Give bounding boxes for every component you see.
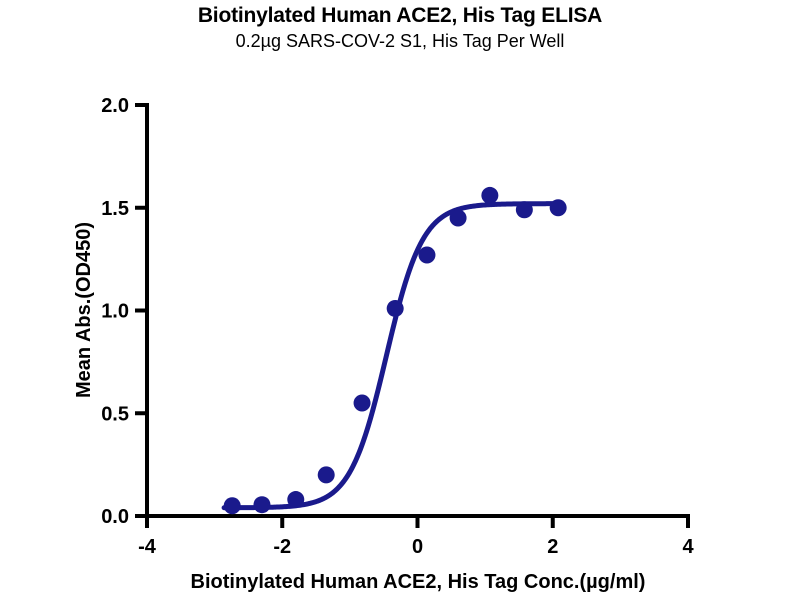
y-tick-label: 0.0: [101, 506, 129, 528]
data-point: [516, 201, 533, 218]
y-tick-label: 1.0: [101, 301, 129, 323]
x-tick-label: 2: [547, 536, 558, 558]
plot-area: 0.00.51.01.52.0 -4-2024 Mean Abs.(OD450)…: [0, 0, 800, 600]
data-point: [418, 247, 435, 264]
data-point: [253, 496, 270, 513]
chart-figure: Biotinylated Human ACE2, His Tag ELISA 0…: [0, 0, 800, 600]
data-point: [481, 187, 498, 204]
x-tick-label: 0: [412, 536, 423, 558]
x-tick-label: -2: [273, 536, 291, 558]
x-tick-label: 4: [682, 536, 694, 558]
y-tick-label: 1.5: [101, 198, 129, 220]
data-point: [318, 466, 335, 483]
x-axis-tick-labels: -4-2024: [138, 536, 694, 558]
y-tick-label: 2.0: [101, 95, 129, 117]
y-tick-label: 0.5: [101, 403, 129, 425]
y-axis-title: Mean Abs.(OD450): [73, 222, 95, 398]
y-axis-tick-labels: 0.00.51.01.52.0: [101, 95, 129, 528]
data-point: [287, 491, 304, 508]
data-point-markers: [224, 187, 567, 514]
data-point: [387, 300, 404, 317]
fit-curve: [224, 204, 558, 508]
data-point: [354, 394, 371, 411]
data-point: [224, 497, 241, 514]
axes: [147, 105, 688, 516]
x-tick-label: -4: [138, 536, 157, 558]
data-point: [550, 199, 567, 216]
data-point: [450, 210, 467, 227]
x-axis-title: Biotinylated Human ACE2, His Tag Conc.(µ…: [191, 571, 646, 593]
